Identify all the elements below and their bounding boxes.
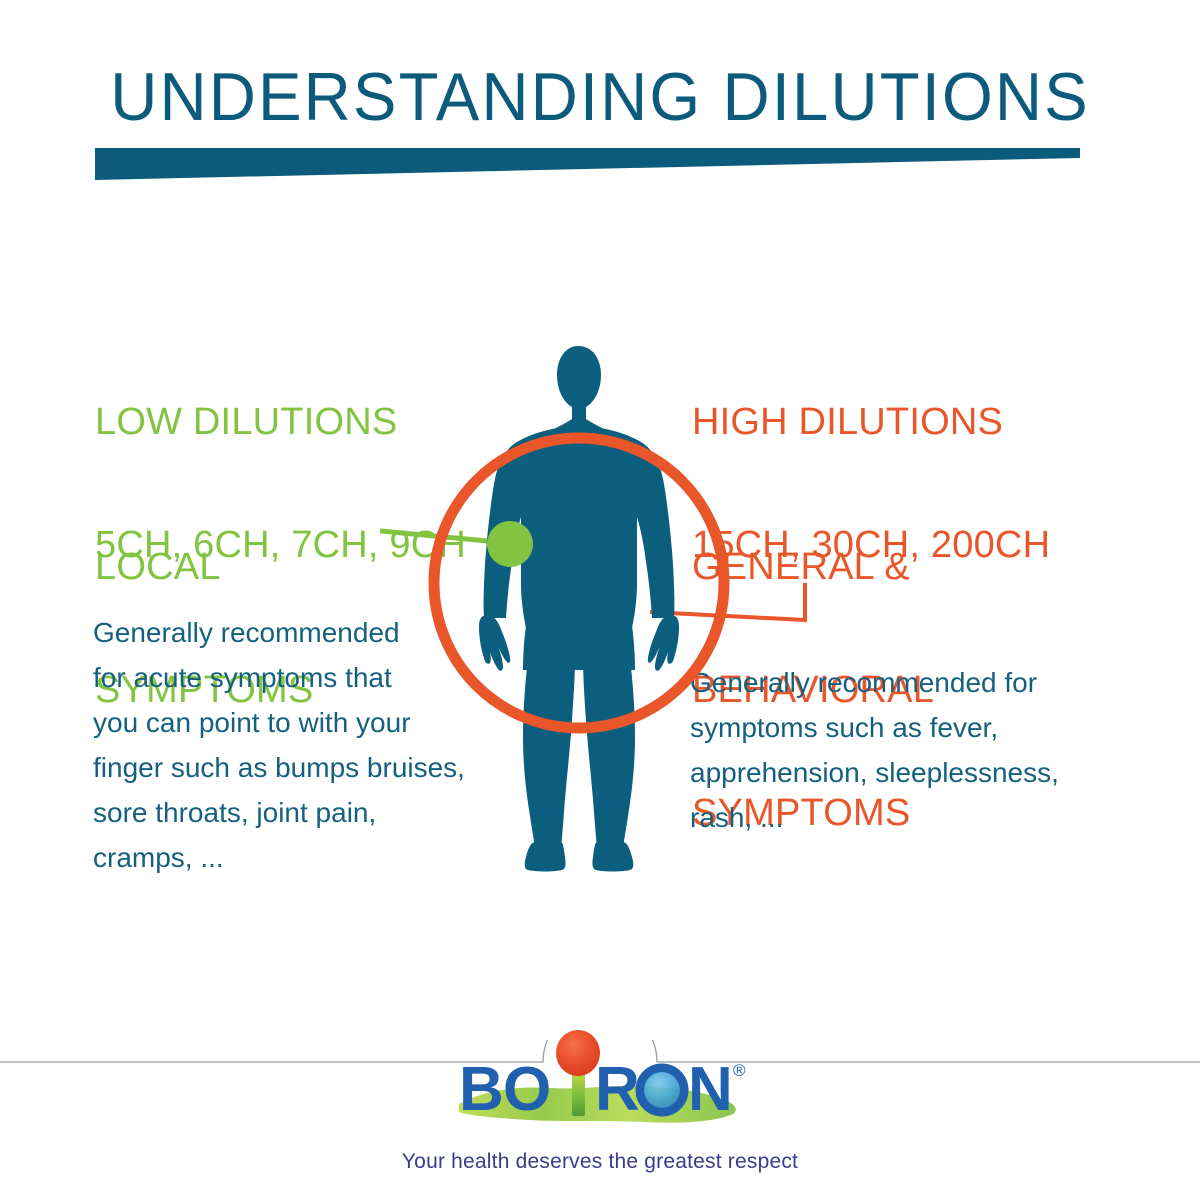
svg-text:R: R [595,1055,640,1124]
human-silhouette-icon [479,346,679,872]
brand-tagline: Your health deserves the greatest respec… [0,1150,1200,1174]
boiron-logo: B O R N ® [447,1028,753,1136]
title-underline-bar [95,148,1080,186]
poppy-flower-icon [556,1030,600,1076]
svg-text:O: O [503,1055,551,1124]
letter-o-watercolor-fill [644,1072,680,1108]
infographic-page: UNDERSTANDING DILUTIONS LOW DILUTIONS 5C… [0,0,1200,1200]
registered-trademark-icon: ® [733,1061,746,1080]
local-symptoms-heading-line1: LOCAL [95,547,313,588]
local-symptom-highlight-dot [487,521,533,567]
svg-text:B: B [459,1055,504,1124]
boiron-wordmark: B O R N [459,1055,733,1124]
body-diagram [380,340,880,880]
page-title: UNDERSTANDING DILUTIONS [24,58,1176,136]
svg-text:N: N [688,1055,733,1124]
